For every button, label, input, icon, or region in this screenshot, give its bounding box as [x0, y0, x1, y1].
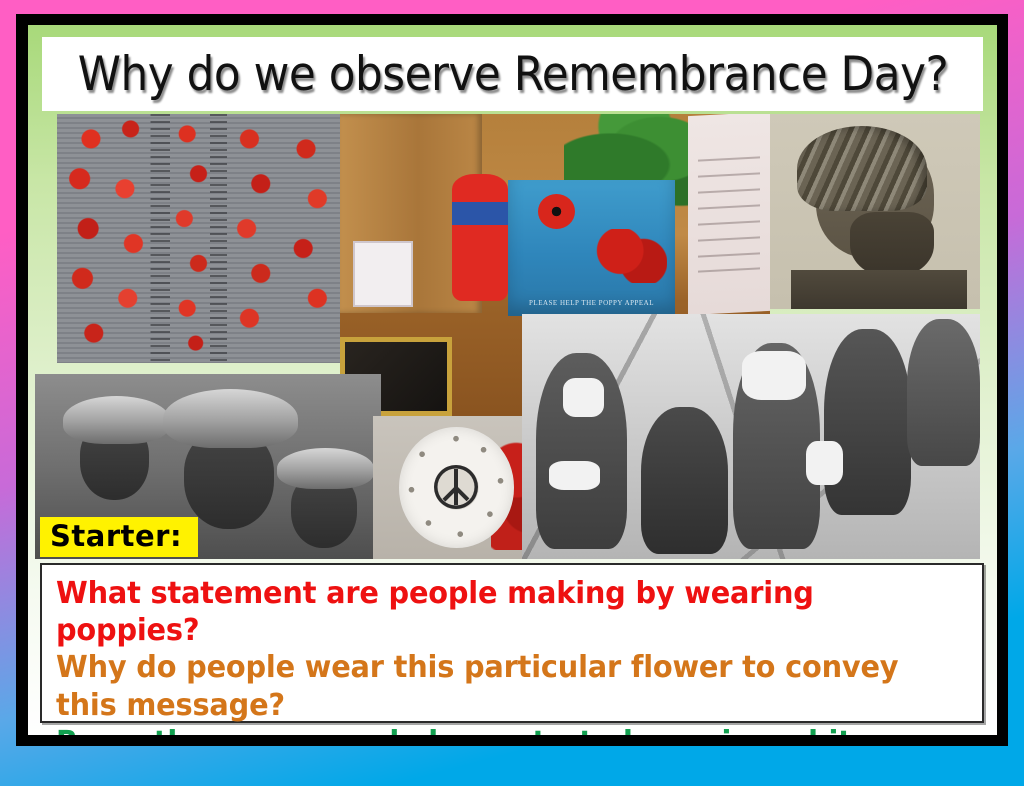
soldier-helmet-1: [63, 396, 170, 444]
image-collage: PLEASE HELP THE POPPY APPEAL: [28, 111, 997, 563]
wounded-soldier-2: [641, 407, 728, 554]
question-3: Recently, some people have started weari…: [56, 724, 932, 735]
engraved-names-texture: [57, 114, 340, 363]
poppy-collection-tin: [452, 174, 508, 301]
question-1: What statement are people making by wear…: [56, 575, 932, 649]
wounded-soldier-5: [907, 319, 980, 466]
info-card: [353, 241, 413, 307]
poppy-memorial-wall-image: [57, 114, 340, 363]
soldier-helmet-2: [163, 389, 298, 448]
poppy-flower-icon: [538, 194, 575, 229]
head-bandage-3: [742, 351, 806, 400]
starter-label-text: Starter:: [50, 519, 182, 553]
poppy-appeal-box-text: PLEASE HELP THE POPPY APPEAL: [521, 298, 662, 308]
soldier-helmet-3: [277, 448, 374, 489]
wounded-soldier-4: [824, 329, 911, 515]
page-title: Why do we observe Remembrance Day?: [77, 47, 947, 102]
wounded-soldiers-image: [522, 314, 980, 559]
soldier-beard: [850, 212, 934, 278]
soldier-turban: [797, 126, 927, 212]
peace-symbol-icon: [434, 465, 478, 509]
question-2: Why do people wear this particular flowe…: [56, 649, 932, 723]
questions-box: What statement are people making by wear…: [40, 563, 984, 723]
slide-title-bar: Why do we observe Remembrance Day?: [42, 37, 983, 111]
arm-bandage-4: [806, 441, 843, 485]
turbaned-soldier-portrait-image: [770, 114, 980, 309]
soldier-uniform: [791, 270, 967, 309]
red-poppies-in-box: [589, 229, 666, 283]
white-poppy-wreath: [399, 427, 514, 547]
starter-label: Starter:: [40, 517, 198, 557]
slide-canvas: Why do we observe Remembrance Day? PLEAS…: [28, 25, 997, 735]
head-bandage-1: [563, 378, 604, 417]
arm-bandage-1: [549, 461, 599, 490]
slide-black-frame: Why do we observe Remembrance Day? PLEAS…: [16, 14, 1008, 746]
presentation-slide: Why do we observe Remembrance Day? PLEAS…: [0, 0, 1024, 786]
information-leaflet: [688, 114, 770, 315]
